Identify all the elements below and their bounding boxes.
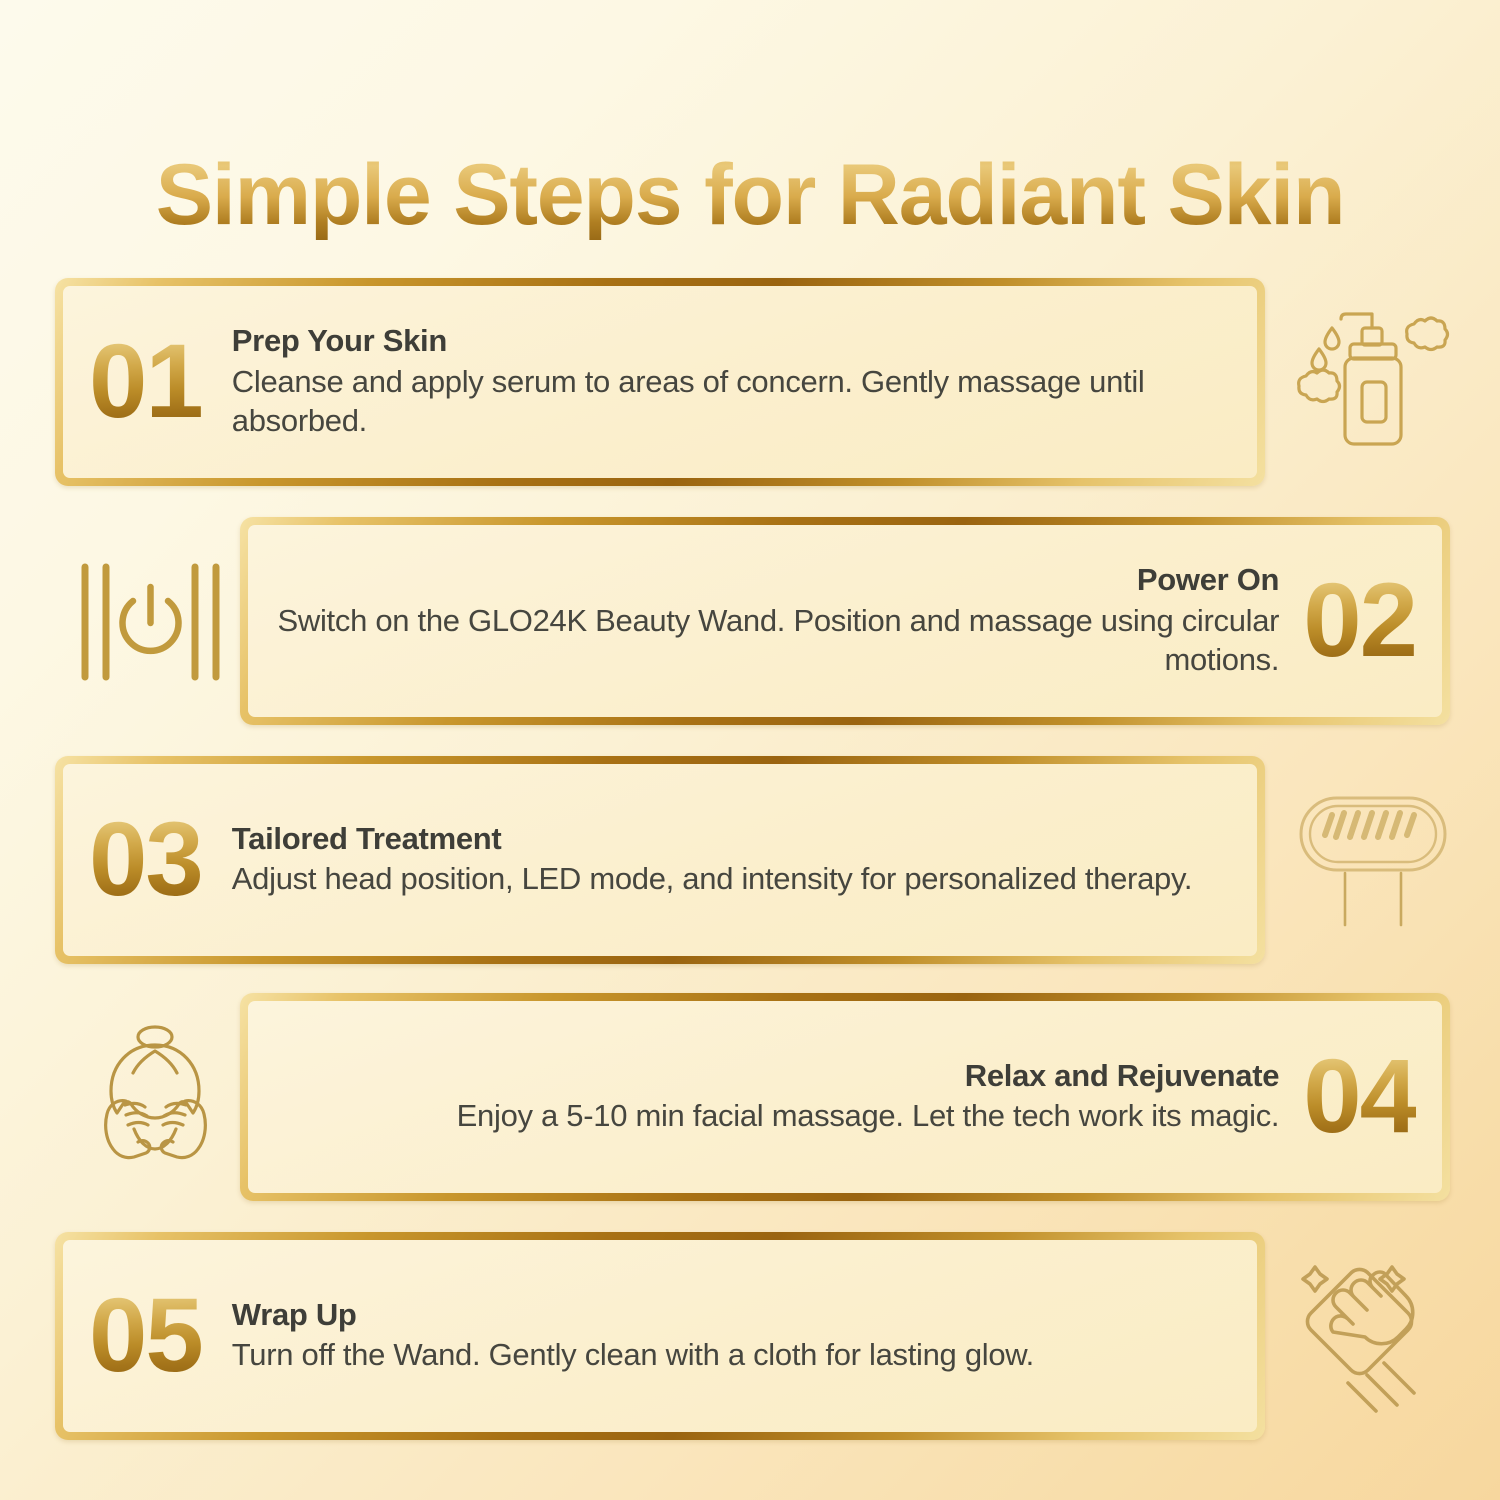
step-description-1: Cleanse and apply serum to areas of conc… — [232, 362, 1231, 441]
step-number-1: 01 — [89, 332, 202, 432]
power-button-icon — [68, 545, 233, 700]
step-card-3: 03 Tailored Treatment Adjust head positi… — [55, 756, 1265, 964]
step-card-3-inner: 03 Tailored Treatment Adjust head positi… — [63, 764, 1257, 956]
step-number-5: 05 — [89, 1286, 202, 1386]
step-number-3: 03 — [89, 810, 202, 910]
step-row-1: 01 Prep Your Skin Cleanse and apply seru… — [55, 278, 1265, 486]
step-card-4-inner: Relax and Rejuvenate Enjoy a 5-10 min fa… — [248, 1001, 1442, 1193]
step-text-4: Relax and Rejuvenate Enjoy a 5-10 min fa… — [274, 1058, 1279, 1136]
step-card-1-inner: 01 Prep Your Skin Cleanse and apply seru… — [63, 286, 1257, 478]
step-row-2: Power On Switch on the GLO24K Beauty Wan… — [240, 517, 1450, 725]
step-title-1: Prep Your Skin — [232, 323, 1231, 360]
page-title: Simple Steps for Radiant Skin — [0, 150, 1500, 240]
step-description-4: Enjoy a 5-10 min facial massage. Let the… — [274, 1096, 1279, 1136]
led-device-head-icon — [1288, 785, 1458, 935]
infographic-poster: Simple Steps for Radiant Skin 01 Prep Yo… — [0, 0, 1500, 1500]
facial-massage-woman-icon — [68, 1015, 243, 1185]
step-card-2-inner: Power On Switch on the GLO24K Beauty Wan… — [248, 525, 1442, 717]
step-title-2: Power On — [274, 562, 1279, 599]
step-card-1: 01 Prep Your Skin Cleanse and apply seru… — [55, 278, 1265, 486]
step-row-4: Relax and Rejuvenate Enjoy a 5-10 min fa… — [240, 993, 1450, 1201]
step-text-1: Prep Your Skin Cleanse and apply serum t… — [232, 323, 1231, 441]
step-card-2: Power On Switch on the GLO24K Beauty Wan… — [240, 517, 1450, 725]
step-text-2: Power On Switch on the GLO24K Beauty Wan… — [274, 562, 1279, 680]
step-title-4: Relax and Rejuvenate — [274, 1058, 1279, 1095]
step-description-5: Turn off the Wand. Gently clean with a c… — [232, 1335, 1231, 1375]
hand-wiping-cloth-icon — [1288, 1255, 1458, 1425]
step-row-5: 05 Wrap Up Turn off the Wand. Gently cle… — [55, 1232, 1265, 1440]
step-text-5: Wrap Up Turn off the Wand. Gently clean … — [232, 1297, 1231, 1375]
step-description-3: Adjust head position, LED mode, and inte… — [232, 859, 1231, 899]
step-card-5-inner: 05 Wrap Up Turn off the Wand. Gently cle… — [63, 1240, 1257, 1432]
step-description-2: Switch on the GLO24K Beauty Wand. Positi… — [274, 601, 1279, 680]
step-card-5: 05 Wrap Up Turn off the Wand. Gently cle… — [55, 1232, 1265, 1440]
step-row-3: 03 Tailored Treatment Adjust head positi… — [55, 756, 1265, 964]
step-number-2: 02 — [1303, 571, 1416, 671]
step-title-3: Tailored Treatment — [232, 821, 1231, 858]
step-number-4: 04 — [1303, 1047, 1416, 1147]
step-text-3: Tailored Treatment Adjust head position,… — [232, 821, 1231, 899]
pump-bottle-icon — [1288, 300, 1458, 465]
step-card-4: Relax and Rejuvenate Enjoy a 5-10 min fa… — [240, 993, 1450, 1201]
step-title-5: Wrap Up — [232, 1297, 1231, 1334]
